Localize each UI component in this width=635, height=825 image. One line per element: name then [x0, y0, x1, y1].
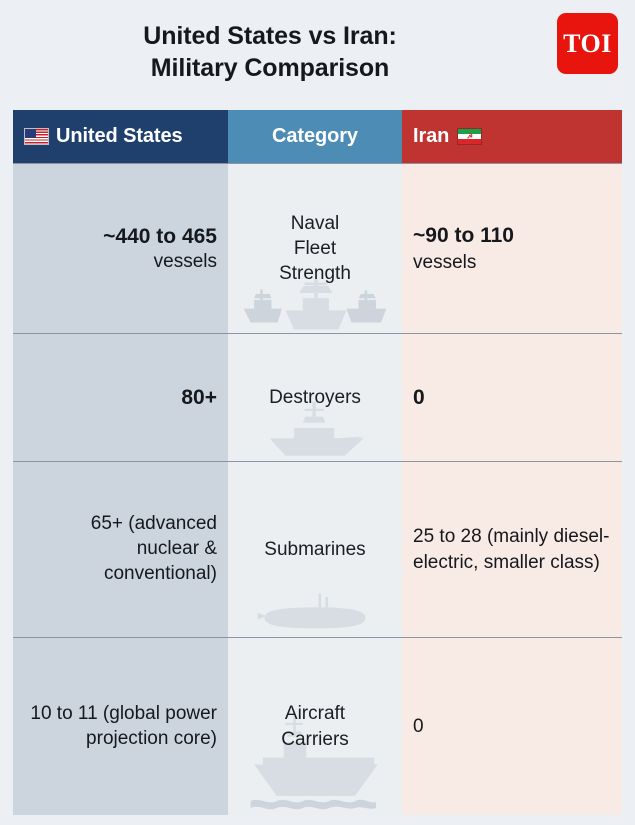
table-row: ~440 to 465 vessels	[13, 163, 622, 333]
us-value: 65+ (advanced nuclear & conventional)	[25, 512, 217, 586]
category-label-line-1: Naval	[291, 213, 340, 234]
toi-logo-text: TOI	[563, 31, 612, 57]
cell-us-destroyers: 80+	[13, 334, 228, 461]
category-label: Naval Fleet Strength	[279, 211, 351, 286]
iran-value: ~90 to 110	[413, 222, 514, 250]
category-label-line-1: Aircraft	[285, 703, 345, 724]
cell-iran-naval-fleet-strength: ~90 to 110 vessels	[402, 164, 622, 333]
page-title: United States vs Iran: Military Comparis…	[0, 20, 540, 84]
us-note: vessels	[103, 250, 217, 275]
iran-value: 25 to 28 (mainly diesel-electric, smalle…	[413, 524, 612, 574]
toi-logo: TOI	[557, 13, 618, 74]
page-title-line-2: Military Comparison	[0, 52, 540, 84]
column-header-category-label: Category	[272, 125, 358, 148]
category-label-line-1: Submarines	[264, 539, 365, 560]
category-label-line-1: Destroyers	[269, 387, 361, 408]
iran-value: 0	[413, 384, 425, 412]
category-label-line-2: Fleet	[294, 238, 336, 259]
table-row: 80+	[13, 333, 622, 461]
category-label: Destroyers	[269, 385, 361, 410]
cell-iran-aircraft-carriers: 0	[402, 638, 622, 815]
cell-category-naval-fleet-strength: Naval Fleet Strength	[228, 164, 402, 333]
column-header-category: Category	[228, 110, 402, 163]
us-value: 80+	[181, 384, 217, 411]
infographic-page: United States vs Iran: Military Comparis…	[0, 0, 635, 825]
cell-iran-submarines: 25 to 28 (mainly diesel-electric, smalle…	[402, 462, 622, 637]
column-header-iran-label: Iran	[413, 125, 449, 148]
iran-note: vessels	[413, 250, 514, 275]
category-label-line-3: Strength	[279, 263, 351, 284]
submarine-icon	[228, 575, 402, 637]
cell-us-aircraft-carriers: 10 to 11 (global power projection core)	[13, 638, 228, 815]
category-label: Submarines	[264, 537, 365, 562]
iran-value: 0	[413, 714, 424, 739]
cell-us-submarines: 65+ (advanced nuclear & conventional)	[13, 462, 228, 637]
table-row: 65+ (advanced nuclear & conventional)	[13, 461, 622, 637]
cell-us-naval-fleet-strength: ~440 to 465 vessels	[13, 164, 228, 333]
page-title-line-1: United States vs Iran:	[143, 22, 396, 50]
table-header-row: United States Category Iran ☭	[13, 110, 622, 163]
us-value: 10 to 11 (global power projection core)	[25, 702, 217, 751]
comparison-table: United States Category Iran ☭ ~440 to 46…	[13, 110, 622, 815]
category-label: Aircraft Carriers	[281, 701, 349, 751]
header: United States vs Iran: Military Comparis…	[0, 0, 635, 105]
column-header-iran: Iran ☭	[402, 110, 622, 163]
column-header-united-states-label: United States	[56, 125, 183, 148]
cell-category-submarines: Submarines	[228, 462, 402, 637]
table-row: 10 to 11 (global power projection core)	[13, 637, 622, 815]
us-flag-icon	[24, 128, 49, 145]
column-header-united-states: United States	[13, 110, 228, 163]
us-value: ~440 to 465	[103, 223, 217, 250]
iran-flag-icon: ☭	[457, 128, 482, 145]
cell-iran-destroyers: 0	[402, 334, 622, 461]
cell-category-destroyers: Destroyers	[228, 334, 402, 461]
cell-category-aircraft-carriers: Aircraft Carriers	[228, 638, 402, 815]
category-label-line-2: Carriers	[281, 729, 349, 750]
